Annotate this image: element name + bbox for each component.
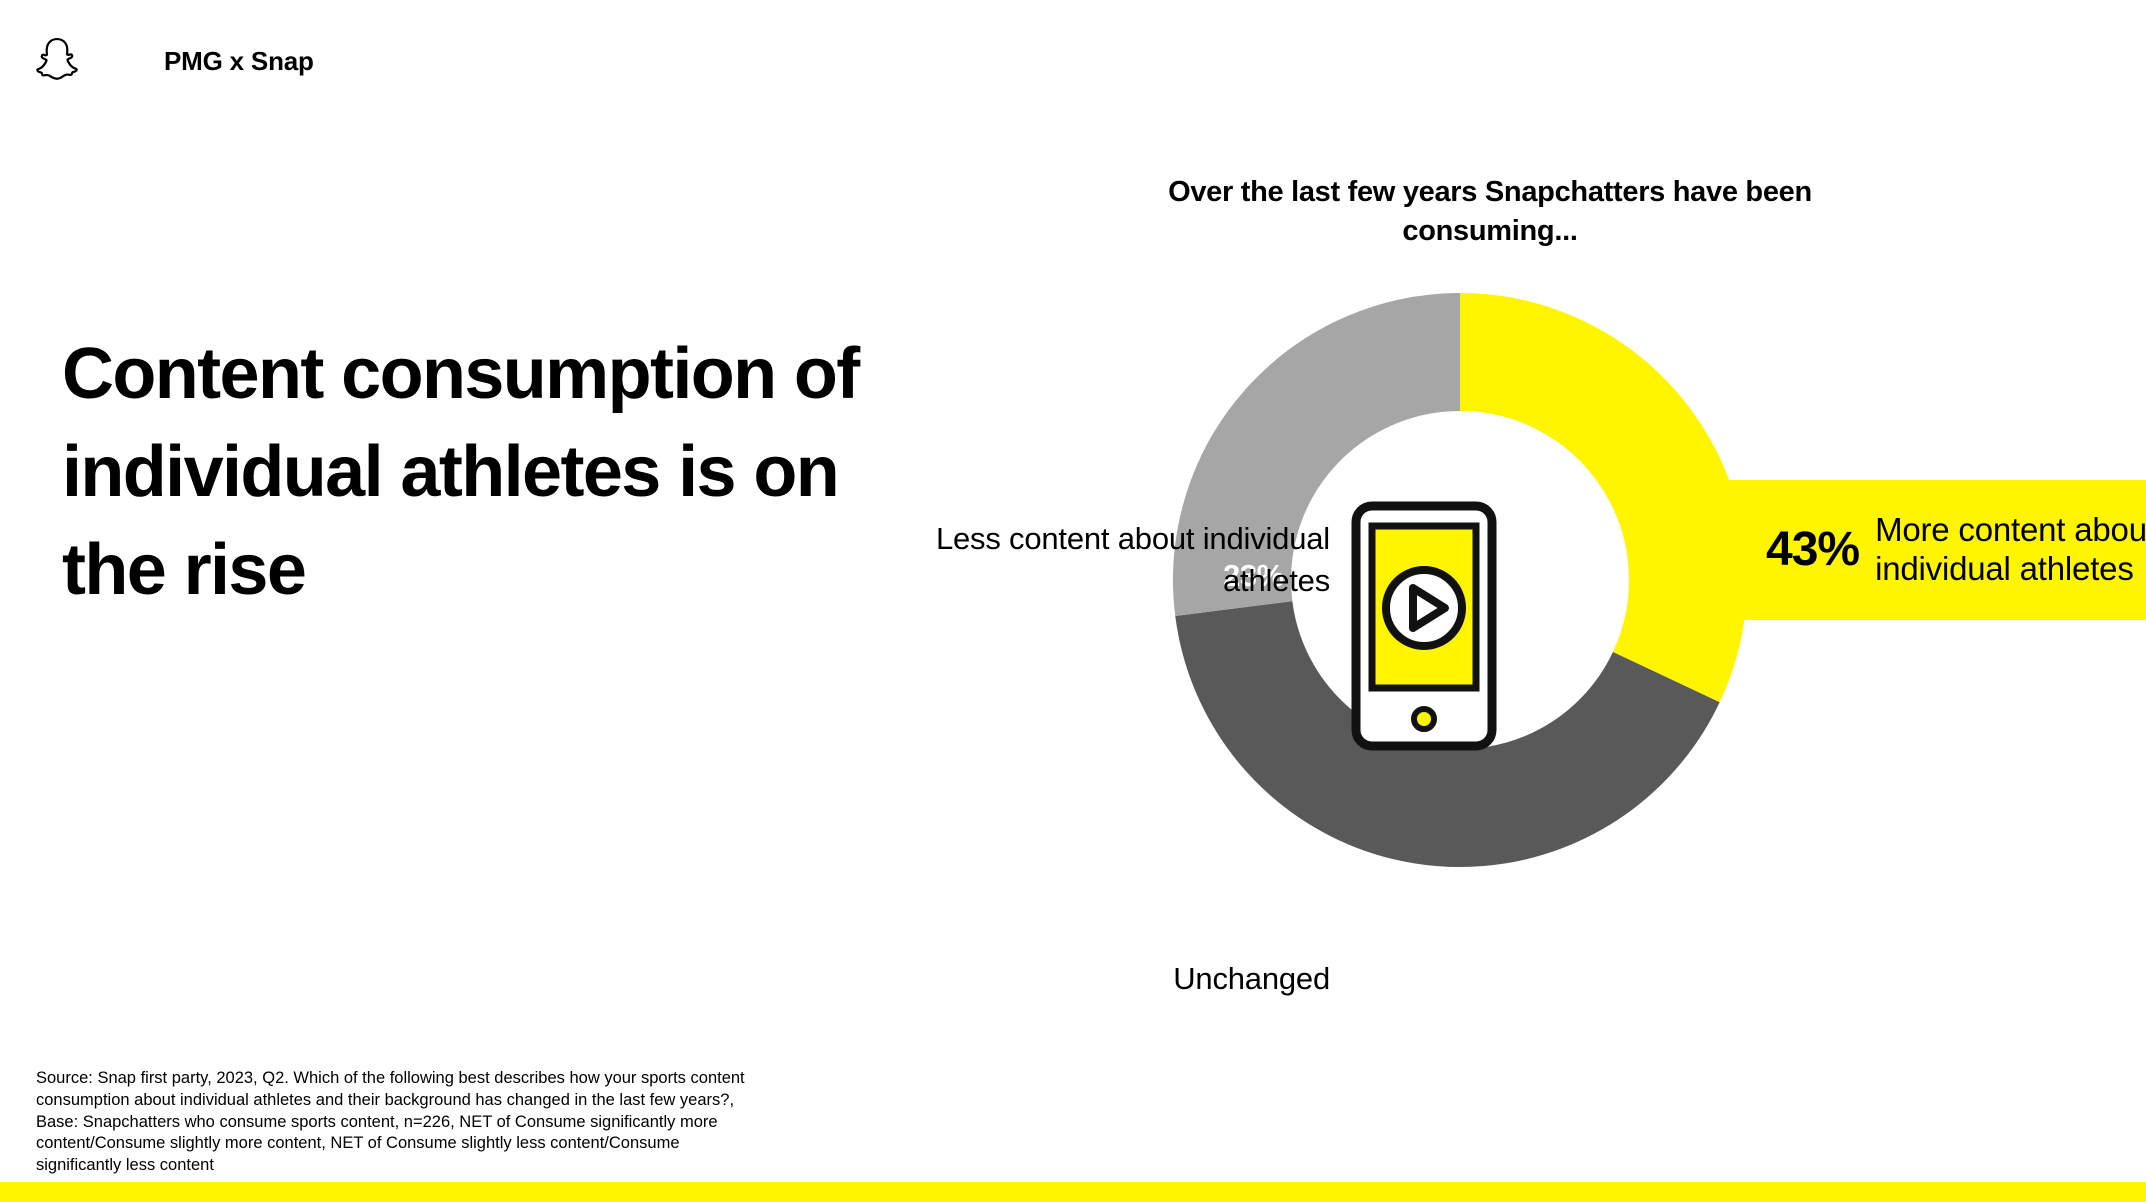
donut-chart: Over the last few years Snapchatters hav… bbox=[1080, 150, 2146, 1010]
callout-more-content: 43% More content about individual athlet… bbox=[1766, 500, 2146, 600]
source-footnote: Source: Snap first party, 2023, Q2. Whic… bbox=[36, 1068, 752, 1177]
bottom-accent-bar bbox=[0, 1182, 2146, 1202]
page-title: Content consumption of individual athlet… bbox=[62, 326, 882, 620]
callout-label: More content about individual athletes bbox=[1875, 511, 2146, 589]
category-label-unchanged: Unchanged bbox=[920, 958, 1330, 1000]
page-header: PMG x Snap bbox=[30, 34, 314, 88]
chart-title: Over the last few years Snapchatters hav… bbox=[1160, 173, 1820, 250]
mobile-video-play-icon bbox=[1350, 500, 1498, 752]
callout-value: 43% bbox=[1766, 526, 1859, 574]
category-label-less: Less content about individual athletes bbox=[880, 518, 1330, 601]
brand-title: PMG x Snap bbox=[164, 46, 314, 77]
snapchat-ghost-icon bbox=[30, 34, 84, 88]
